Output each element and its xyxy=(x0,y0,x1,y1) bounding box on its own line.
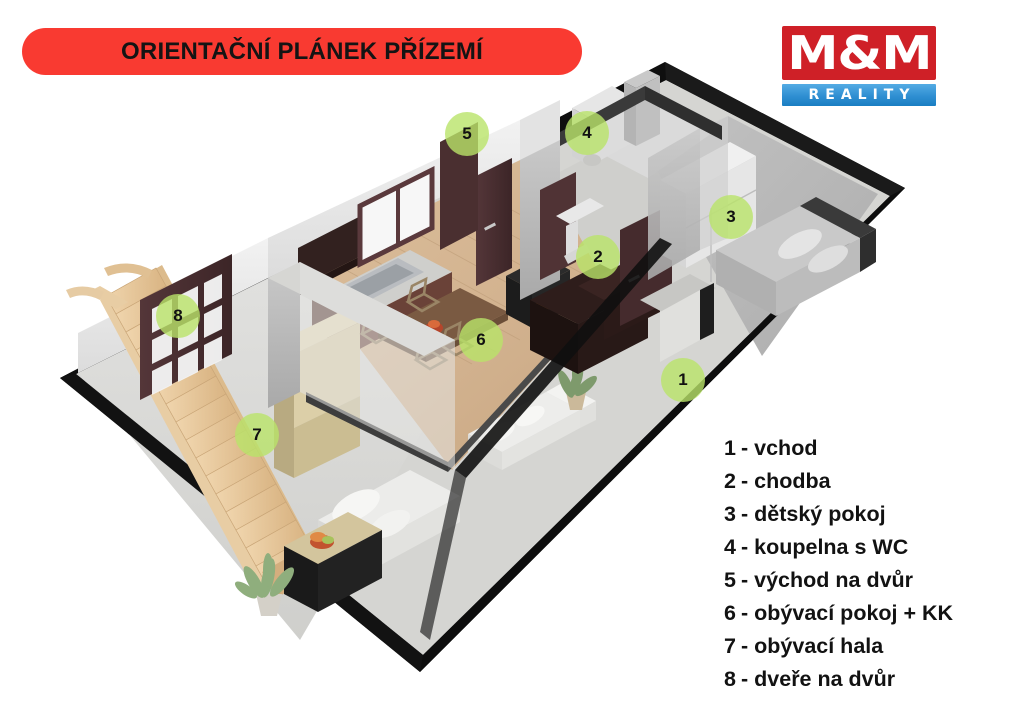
legend-item: 7 - obývací hala xyxy=(724,634,1020,667)
room-marker-1[interactable]: 1 xyxy=(661,358,705,402)
legend-item-label: dětský pokoj xyxy=(754,502,885,527)
room-marker-4[interactable]: 4 xyxy=(565,111,609,155)
room-marker-7[interactable]: 7 xyxy=(235,413,279,457)
legend-item-number: 1 xyxy=(724,436,736,461)
legend-item: 4 - koupelna s WC xyxy=(724,535,1020,568)
legend-item-number: 6 xyxy=(724,601,736,626)
room-marker-6-label: 6 xyxy=(476,330,485,350)
legend-item: 8 - dveře na dvůr xyxy=(724,667,1020,700)
room-marker-5[interactable]: 5 xyxy=(445,112,489,156)
legend-item-label: chodba xyxy=(754,469,830,494)
legend-item: 5 - východ na dvůr xyxy=(724,568,1020,601)
legend-item-dash: - xyxy=(741,601,748,626)
legend-item-number: 7 xyxy=(724,634,736,659)
room-marker-5-label: 5 xyxy=(462,124,471,144)
room-marker-7-label: 7 xyxy=(252,425,261,445)
room-marker-3-label: 3 xyxy=(726,207,735,227)
legend-item-dash: - xyxy=(741,535,748,560)
room-marker-6[interactable]: 6 xyxy=(459,318,503,362)
legend-item-label: koupelna s WC xyxy=(754,535,908,560)
legend-item-dash: - xyxy=(741,634,748,659)
room-marker-1-label: 1 xyxy=(678,370,687,390)
room-legend: 1 - vchod 2 - chodba 3 - dětský pokoj 4 … xyxy=(724,436,1020,700)
legend-item-number: 8 xyxy=(724,667,736,692)
legend-item: 1 - vchod xyxy=(724,436,1020,469)
legend-item-number: 2 xyxy=(724,469,736,494)
legend-item-number: 3 xyxy=(724,502,736,527)
legend-item-number: 4 xyxy=(724,535,736,560)
room-marker-8[interactable]: 8 xyxy=(156,294,200,338)
room-marker-2[interactable]: 2 xyxy=(576,235,620,279)
legend-item-label: východ na dvůr xyxy=(754,568,913,593)
legend-item-label: vchod xyxy=(754,436,817,461)
legend-item-label: dveře na dvůr xyxy=(754,667,895,692)
legend-item-label: obývací hala xyxy=(754,634,883,659)
legend-item-dash: - xyxy=(741,469,748,494)
legend-item-dash: - xyxy=(741,568,748,593)
room-marker-8-label: 8 xyxy=(173,306,182,326)
legend-item-dash: - xyxy=(741,436,748,461)
legend-item: 6 - obývací pokoj + KK xyxy=(724,601,1020,634)
room-marker-3[interactable]: 3 xyxy=(709,195,753,239)
legend-item-dash: - xyxy=(741,667,748,692)
legend-item-number: 5 xyxy=(724,568,736,593)
legend-item: 2 - chodba xyxy=(724,469,1020,502)
legend-item: 3 - dětský pokoj xyxy=(724,502,1020,535)
legend-item-dash: - xyxy=(741,502,748,527)
room-marker-2-label: 2 xyxy=(593,247,602,267)
room-marker-4-label: 4 xyxy=(582,123,591,143)
legend-item-label: obývací pokoj + KK xyxy=(754,601,953,626)
